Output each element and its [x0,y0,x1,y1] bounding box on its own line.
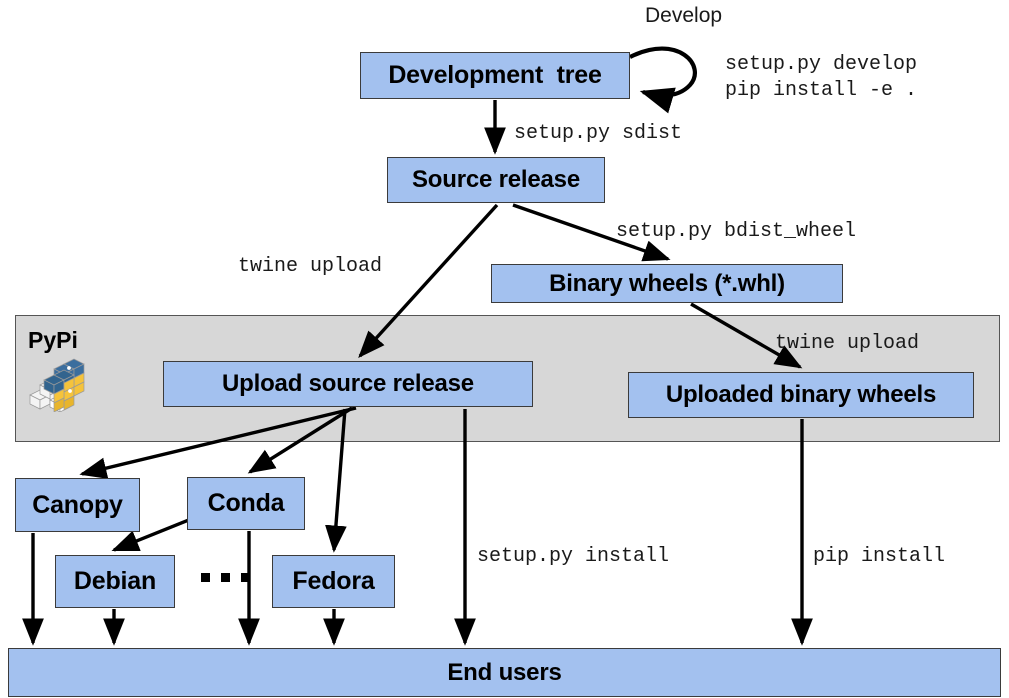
label-twine-upload-source: twine upload [238,254,382,280]
label-develop: Develop [645,4,722,28]
node-source-release[interactable]: Source release [387,157,605,203]
packaging-flow-diagram: PyPi [0,0,1009,698]
node-upload-source-release[interactable]: Upload source release [163,361,533,407]
node-development-tree[interactable]: Development tree [360,52,630,99]
node-uploaded-binary-wheels[interactable]: Uploaded binary wheels [628,372,974,418]
node-canopy[interactable]: Canopy [15,478,140,532]
node-fedora[interactable]: Fedora [272,555,395,608]
label-pip-install: pip install [813,544,945,570]
label-setup-py-sdist: setup.py sdist [514,121,682,147]
node-binary-wheels[interactable]: Binary wheels (*.whl) [491,264,843,303]
label-develop-commands: setup.py develop pip install -e . [725,52,917,105]
label-setup-py-install: setup.py install [477,544,669,570]
label-twine-upload-wheels: twine upload [775,331,919,357]
label-setup-py-bdist-wheel: setup.py bdist_wheel [616,219,856,245]
node-debian[interactable]: Debian [55,555,175,608]
node-conda[interactable]: Conda [187,477,305,530]
node-end-users[interactable]: End users [8,648,1001,697]
ellipsis-dots [201,573,250,582]
